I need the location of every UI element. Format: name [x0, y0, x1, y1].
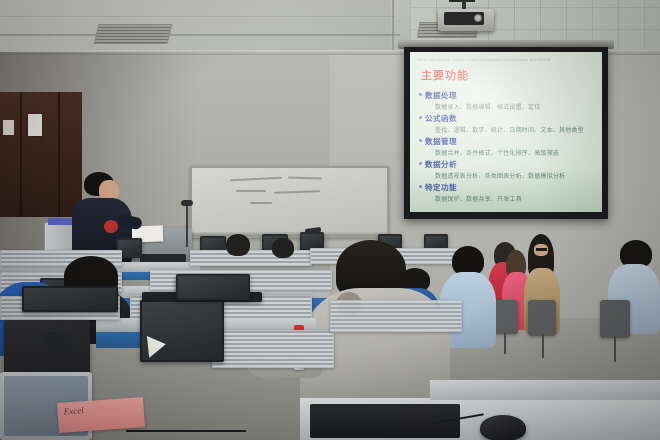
- panel-seam: [58, 92, 60, 217]
- ceiling-seam: [392, 0, 394, 52]
- slide-section: 公式函数 查找、逻辑、数学、统计、日期时间、文本、其他类型: [425, 113, 595, 134]
- slide-header: Office Automation Course | Data Manageme…: [417, 58, 595, 62]
- whiteboard: [190, 166, 389, 238]
- desk-partition: [330, 300, 462, 332]
- slide-section-body: 数据录入、数据编辑、格式设置、定位: [435, 102, 595, 111]
- projector-lens: [474, 14, 482, 22]
- presenter-shirt-logo: [104, 220, 118, 233]
- ceiling-vent: [94, 24, 173, 44]
- slide-title: 主要功能: [421, 67, 595, 83]
- slide-section: 数据管理 数据合并、条件格式、个性化排序、高级筛选: [425, 136, 595, 157]
- handwritten-label: Excel: [57, 397, 145, 433]
- whiteboard-writing: [230, 177, 282, 182]
- monitor-stand-mount: [46, 332, 72, 352]
- chair-leg: [614, 336, 616, 362]
- slide-section-body: 查找、逻辑、数学、统计、日期时间、文本、其他类型: [435, 125, 595, 134]
- screen-shadow: [410, 167, 602, 212]
- desk-partition: [212, 330, 334, 368]
- chair: [600, 300, 630, 338]
- chair-leg: [542, 334, 544, 358]
- wall-paper-sign: [3, 120, 14, 135]
- whiteboard-writing: [250, 202, 272, 204]
- whiteboard-writing: [288, 176, 322, 179]
- slide-section-heading: 数据管理: [425, 136, 595, 147]
- projection-screen: Office Automation Course | Data Manageme…: [410, 52, 602, 212]
- chair-leg: [504, 332, 506, 354]
- attendee-head: [272, 238, 294, 258]
- ceiling-projector: [438, 9, 494, 31]
- ceiling-shaded-area: [0, 0, 390, 52]
- whiteboard-writing: [236, 190, 266, 192]
- chair: [528, 300, 556, 336]
- whiteboard-writing: [274, 190, 320, 194]
- ceiling-seam: [0, 34, 400, 36]
- desk-partition: [190, 250, 312, 266]
- monitor: [22, 286, 118, 312]
- wood-wall-panel: [0, 92, 82, 217]
- attendee-head: [226, 234, 250, 256]
- panel-seam: [20, 92, 22, 217]
- desk-cable: [126, 430, 246, 432]
- microphone: [181, 200, 193, 206]
- wall-paper-sign: [28, 114, 42, 136]
- handwritten-label-text: Excel: [63, 405, 84, 416]
- monitor: [176, 274, 250, 300]
- slide-section-heading: 公式函数: [425, 113, 595, 124]
- slide-section-heading: 数据处理: [425, 90, 595, 101]
- desk-surface: [430, 380, 660, 400]
- attendee-glasses: [536, 248, 547, 251]
- computer-mouse: [480, 415, 526, 440]
- classroom-photo: Office Automation Course | Data Manageme…: [0, 0, 660, 440]
- ceiling-seam: [0, 16, 395, 17]
- paper-note: [147, 334, 167, 358]
- microphone-stand: [186, 205, 188, 247]
- slide-section-body: 数据合并、条件格式、个性化排序、高级筛选: [435, 148, 595, 157]
- slide-section: 数据处理 数据录入、数据编辑、格式设置、定位: [425, 90, 595, 111]
